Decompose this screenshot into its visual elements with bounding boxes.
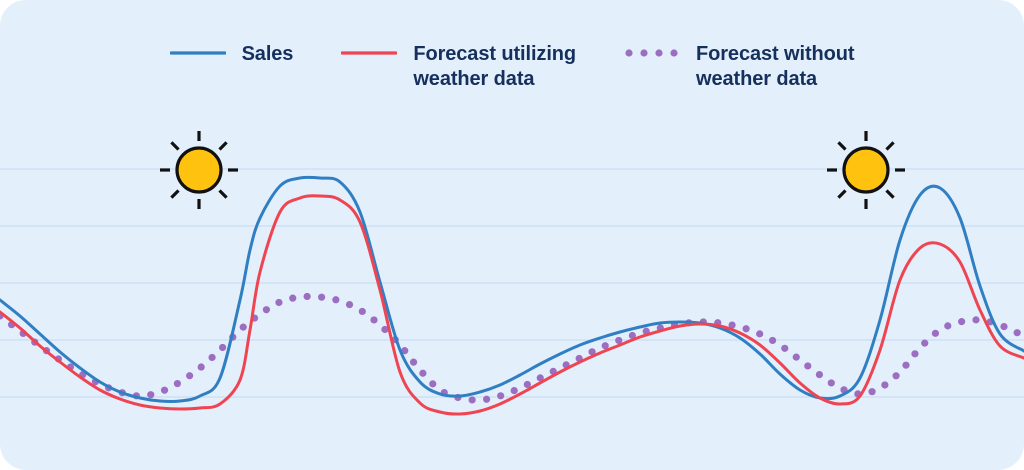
series-dot — [881, 381, 888, 388]
series-dot — [911, 350, 918, 357]
series-dot — [1000, 323, 1007, 330]
series-dot — [419, 370, 426, 377]
sun-disc — [844, 148, 888, 192]
series-dot — [208, 354, 215, 361]
sun-ray — [171, 142, 178, 149]
sun-ray — [220, 191, 227, 198]
series-dot — [743, 325, 750, 332]
series-dot — [921, 340, 928, 347]
series-dot — [289, 295, 296, 302]
series-dot — [318, 294, 325, 301]
series-dot — [958, 318, 965, 325]
series-dot — [370, 316, 377, 323]
series-dot — [469, 396, 476, 403]
series-dot — [756, 330, 763, 337]
series-dot — [892, 372, 899, 379]
sun-ray — [838, 191, 845, 198]
gridlines-group — [0, 169, 1024, 397]
series-dot — [429, 380, 436, 387]
weather-forecast-chart-card: SalesForecast utilizing weather dataFore… — [0, 0, 1024, 470]
series-dot — [804, 362, 811, 369]
series-dot — [410, 359, 417, 366]
series-dot — [868, 388, 875, 395]
series-dot — [781, 345, 788, 352]
series-forecast-without-weather-data — [0, 293, 1021, 404]
series-dot — [972, 316, 979, 323]
series-dot — [240, 324, 247, 331]
series-dot — [161, 387, 168, 394]
sun-icon — [827, 131, 905, 209]
series-dot — [198, 363, 205, 370]
series-dot — [1014, 329, 1021, 336]
series-dot — [932, 330, 939, 337]
sun-ray — [887, 142, 894, 149]
series-dot — [332, 296, 339, 303]
series-dot — [511, 387, 518, 394]
series-dot — [816, 371, 823, 378]
series-dot — [263, 306, 270, 313]
sun-disc — [177, 148, 221, 192]
series-group — [0, 177, 1024, 414]
sun-ray — [220, 142, 227, 149]
series-dot — [186, 372, 193, 379]
series-dot — [147, 391, 154, 398]
series-dot — [497, 392, 504, 399]
sun-ray — [838, 142, 845, 149]
series-dot — [944, 322, 951, 329]
sun-ray — [171, 191, 178, 198]
series-dot — [219, 344, 226, 351]
sun-icon — [160, 131, 238, 209]
series-dot — [793, 354, 800, 361]
series-dot — [304, 293, 311, 300]
sun-ray — [887, 191, 894, 198]
series-dot — [174, 380, 181, 387]
series-line-forecast-utilizing-weather-data — [0, 196, 1024, 414]
series-dot — [902, 362, 909, 369]
series-dot — [359, 308, 366, 315]
series-line-sales — [0, 177, 1024, 401]
series-dot — [275, 299, 282, 306]
series-dot — [483, 396, 490, 403]
series-dot — [769, 337, 776, 344]
series-dot — [346, 301, 353, 308]
series-dot — [828, 379, 835, 386]
chart-plot-area — [0, 0, 1024, 470]
